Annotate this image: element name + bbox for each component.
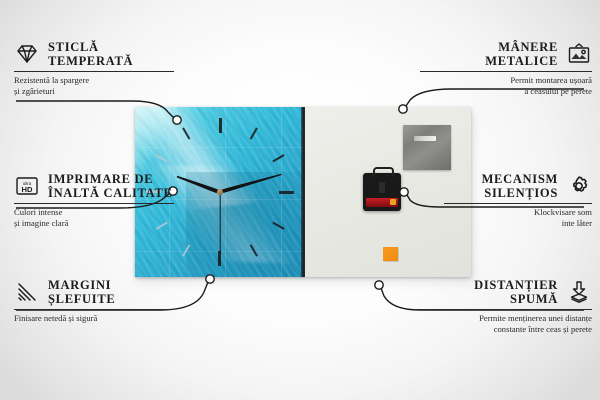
callout-description: Permit montarea ușoară a ceasului pe per… — [420, 75, 592, 96]
callout-title: STICLĂ TEMPERATĂ — [48, 40, 133, 68]
polished-edges-icon — [14, 280, 40, 304]
callout-divider — [14, 203, 174, 204]
product-image-composite — [135, 107, 471, 277]
callout-divider — [14, 71, 174, 72]
clock-marker — [279, 191, 294, 194]
gear-icon — [566, 174, 592, 198]
foam-spacer-block — [383, 247, 398, 261]
metal-hanger-plate — [403, 125, 451, 170]
mechanism-shaft — [379, 182, 385, 193]
callout-title: MECANISM SILENȚIOS — [482, 172, 558, 200]
callout-divider — [444, 203, 592, 204]
callout-title: IMPRIMARE DE ÎNALTĂ CALITATE — [48, 172, 173, 200]
callout-hd-print: ultra HD IMPRIMARE DE ÎNALTĂ CALITATE Cu… — [14, 172, 174, 228]
battery-terminal — [390, 199, 396, 205]
callout-description: Finisare netedă și sigură — [14, 313, 174, 324]
callout-title: MARGINI ȘLEFUITE — [48, 278, 115, 306]
callout-divider — [416, 309, 592, 310]
callout-foam-spacer: DISTANȚIER SPUMĂ Permite menținerea unei… — [416, 278, 592, 334]
ultra-hd-icon: ultra HD — [14, 174, 40, 198]
picture-frame-hanger-icon — [566, 42, 592, 66]
mechanism-battery — [366, 198, 398, 207]
clock-marker — [219, 118, 222, 133]
callout-metal-hangers: MÂNERE METALICE Permit montarea ușoară a… — [420, 40, 592, 96]
product-infographic: STICLĂ TEMPERATĂ Rezistentă la spargere … — [0, 0, 600, 400]
callout-title: MÂNERE METALICE — [485, 40, 558, 68]
callout-title: DISTANȚIER SPUMĂ — [474, 278, 558, 306]
hanger-slot — [414, 136, 436, 141]
callout-description: Rezistentă la spargere și zgârieturi — [14, 75, 174, 96]
callout-tempered-glass: STICLĂ TEMPERATĂ Rezistentă la spargere … — [14, 40, 174, 96]
callout-divider — [420, 71, 592, 72]
callout-description: Permite menținerea unei distanțe constan… — [416, 313, 592, 334]
callout-polished-edges: MARGINI ȘLEFUITE Finisare netedă și sigu… — [14, 278, 174, 324]
clock-second-hand — [219, 192, 220, 254]
clock-center-cap — [217, 189, 223, 195]
mechanism-hanger-loop — [373, 167, 394, 177]
callout-description: Klockvisare som inte låter — [444, 207, 592, 228]
down-arrow-layer-icon — [566, 280, 592, 304]
callout-silent-mechanism: MECANISM SILENȚIOS Klockvisare som inte … — [444, 172, 592, 228]
clock-mechanism — [363, 173, 401, 211]
callout-divider — [14, 309, 174, 310]
diamond-icon — [14, 42, 40, 66]
callout-description: Culori intense și imagine clară — [14, 207, 174, 228]
svg-text:HD: HD — [22, 185, 33, 194]
wire-endpoint-foam-spacer — [375, 281, 383, 289]
